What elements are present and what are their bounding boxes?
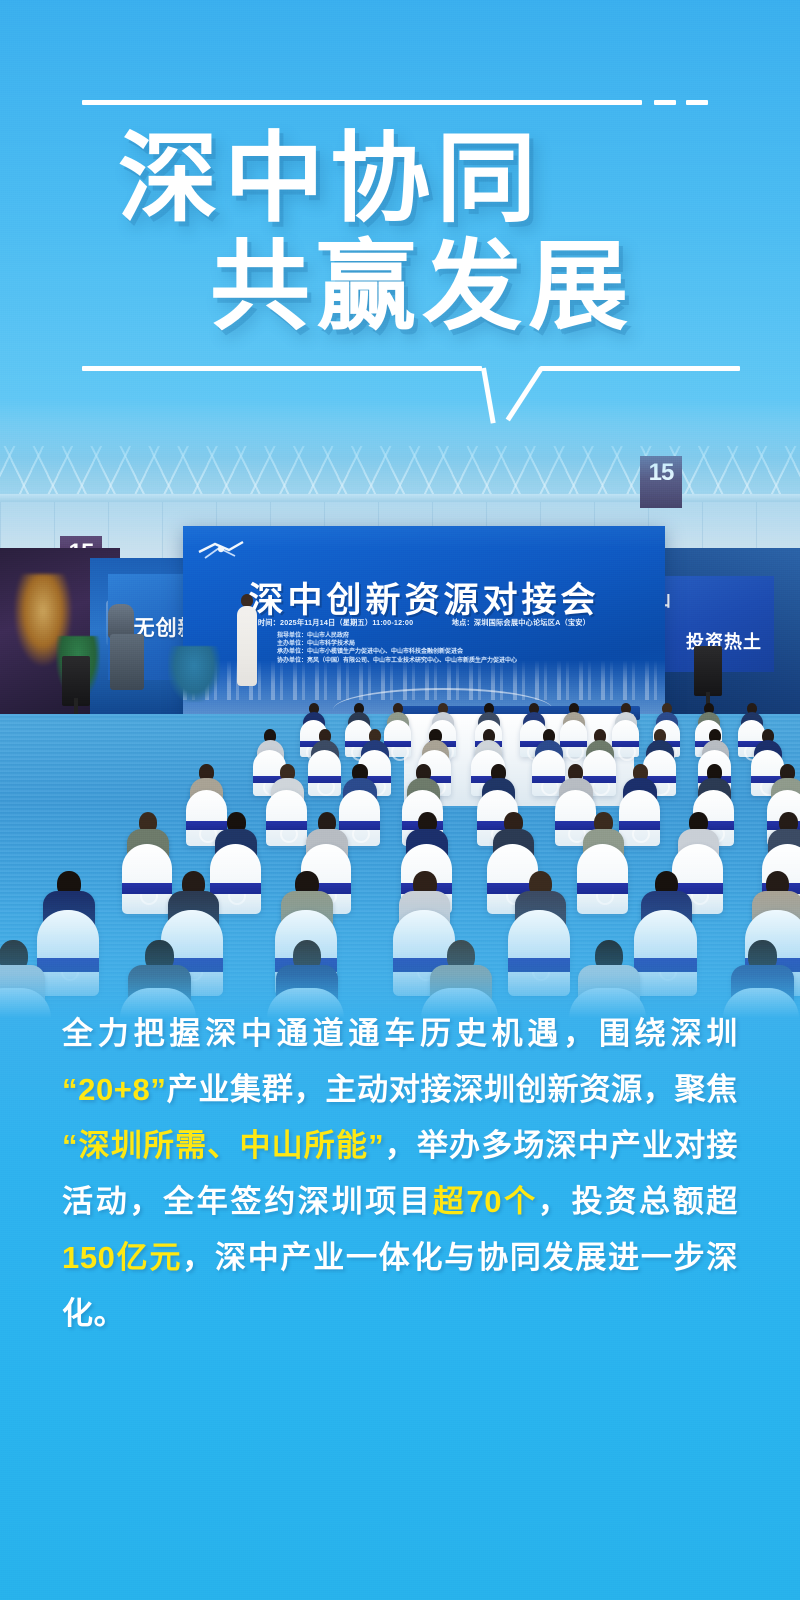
body-text: 全力把握深中通道通车历史机遇，围绕深圳 <box>62 1016 738 1051</box>
audience-chair <box>266 790 307 846</box>
hall-sign-number-right: 15 <box>640 456 682 508</box>
headline-block: 深中协同 共赢发展 <box>0 128 800 336</box>
organizer-line: 承办单位：中山市小榄镇生产力促进中心、中山市科技金融创新促进会 <box>277 648 617 656</box>
top-rule-dash-1 <box>654 100 676 105</box>
audience-chair <box>308 750 341 796</box>
event-photo: 15 15 无创新 不中山 美丽中山 投资热土 深中创新资源对接会 <box>0 398 800 1018</box>
bottom-rule-right <box>540 366 740 371</box>
stage-meta-place: 地点：深圳国际会展中心论坛区A（宝安） <box>452 618 590 627</box>
audience-chair <box>508 910 571 996</box>
poster-header: 深中协同 共赢发展 <box>0 0 800 400</box>
audience-chair <box>577 844 628 914</box>
organizer-line: 主办单位：中山市科学技术局 <box>277 640 617 648</box>
podium-statue <box>108 604 134 638</box>
body-highlight: 超70个 <box>433 1184 538 1219</box>
photo-scene: 15 15 无创新 不中山 美丽中山 投资热土 深中创新资源对接会 <box>0 398 800 1018</box>
event-logo-icon <box>195 536 247 564</box>
bottom-rule-left <box>82 366 482 371</box>
audience-chair <box>37 910 100 996</box>
poster-root: 深中协同 共赢发展 15 15 无创新 不中山 <box>0 0 800 1600</box>
stage-speaker <box>232 594 262 686</box>
body-text: ，投资总额超 <box>538 1184 738 1219</box>
stage-meta-time: 时间：2025年11月14日（星期五）11:00-12:00 <box>258 618 413 627</box>
body-copy: 全力把握深中通道通车历史机遇，围绕深圳“20+8”产业集群，主动对接深圳创新资源… <box>62 1006 738 1342</box>
body-highlight: “深圳所需、中山所能” <box>62 1128 384 1163</box>
bottom-rule-group <box>0 344 800 400</box>
audience-chair <box>122 844 173 914</box>
body-highlight: 150亿元 <box>62 1240 182 1275</box>
audience-chair <box>619 790 660 846</box>
audience-chair <box>612 720 639 757</box>
headline-line-2: 共赢发展 <box>210 236 800 336</box>
body-text: 产业集群，主动对接深圳创新资源，聚焦 <box>166 1072 738 1107</box>
top-rule-dash-2 <box>686 100 708 105</box>
top-rule-line <box>82 100 642 105</box>
podium <box>110 634 144 690</box>
organizer-line: 指导单位：中山市人民政府 <box>277 632 617 640</box>
body-highlight: “20+8” <box>62 1072 166 1107</box>
headline-line-1: 深中协同 <box>118 128 800 228</box>
audience-chair <box>634 910 697 996</box>
speaker-body <box>237 606 257 686</box>
body-paragraph: 全力把握深中通道通车历史机遇，围绕深圳“20+8”产业集群，主动对接深圳创新资源… <box>62 1006 738 1342</box>
audience-chair <box>560 720 587 757</box>
loudspeaker-right <box>694 646 722 696</box>
stage-plant-blue <box>168 646 220 702</box>
